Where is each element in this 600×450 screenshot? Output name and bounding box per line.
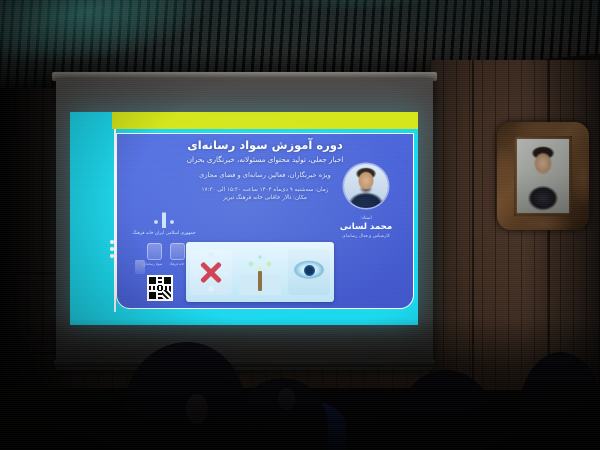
tree-trunk — [258, 271, 262, 291]
org-caption: خانه فرهنگ — [169, 262, 184, 266]
foreground-darkening — [0, 318, 600, 450]
org-caption: سواد رسانه‌ای — [143, 262, 162, 266]
eye-pupil — [304, 265, 315, 276]
slide-icon-strip — [186, 242, 334, 302]
tree-icon — [239, 249, 281, 295]
speaker-name: محمد لسانی — [324, 222, 408, 232]
qr-code-pattern — [149, 277, 171, 299]
speaker-card: استاد: محمد لسانی کارشناس و فعال رسانه‌ا… — [324, 140, 408, 252]
small-logo-icon — [135, 260, 145, 274]
org-logo-icon — [170, 243, 185, 260]
org-logo-icon — [147, 243, 162, 260]
eye-icon — [288, 249, 330, 295]
x-mark-icon — [198, 259, 224, 285]
photo-scene: دوره آموزش سواد رسانه‌ای اخبار جعلی، تول… — [0, 0, 600, 450]
projected-slide: دوره آموزش سواد رسانه‌ای اخبار جعلی، تول… — [70, 112, 418, 325]
portrait-frame-inner — [514, 136, 572, 216]
speaker-role-label: استاد: — [324, 216, 408, 221]
organizer-name: جمهوری اسلامی ایران خانه فرهنگ — [125, 231, 203, 237]
slide-top-band — [112, 112, 418, 129]
iran-emblem-icon — [153, 208, 175, 228]
puzzle-x-icon — [190, 249, 232, 295]
speaker-avatar — [344, 164, 388, 208]
portrait-image — [517, 139, 569, 213]
speaker-title: کارشناس و فعال رسانه‌ای — [324, 234, 408, 240]
slide-dots-left — [110, 240, 114, 258]
framed-portrait — [497, 122, 589, 230]
qr-code — [147, 275, 173, 301]
